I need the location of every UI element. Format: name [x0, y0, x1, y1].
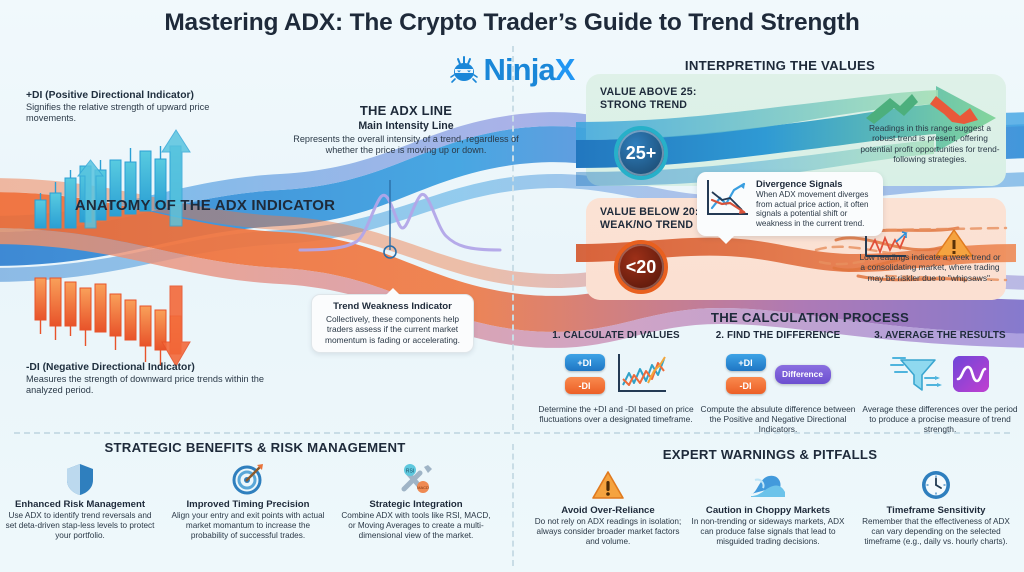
benefit-title: Strategic Integration [338, 499, 494, 510]
warning-title: Caution in Choppy Markets [690, 505, 846, 516]
strong-trend-title: VALUE ABOVE 25:STRONG TREND [600, 86, 697, 112]
warning-card-2: Caution in Choppy Markets In non-trendin… [690, 468, 846, 547]
interpreting-heading: INTERPRETING THE VALUES [600, 58, 960, 73]
shield-icon [2, 462, 158, 496]
calc-step-2-title: 2. FIND THE DIFFERENCE [700, 330, 856, 341]
line-chart-icon [614, 351, 668, 397]
calc-step-1-pills: +DI -DI [565, 354, 605, 394]
brand-name-accent: X [555, 52, 575, 87]
warning-title: Avoid Over-Reliance [530, 505, 686, 516]
calc-step-3: 3. AVERAGE THE RESULTS [862, 330, 1018, 435]
adx-line-subheading: Main Intensity Line [286, 120, 526, 132]
infographic-canvas: Mastering ADX: The Crypto Trader’s Guide… [0, 0, 1024, 572]
calc-step-2-pills: +DI -DI [726, 354, 766, 394]
svg-text:MACD: MACD [417, 485, 429, 490]
divergence-card: Divergence Signals When ADX movement div… [697, 172, 883, 236]
brand-name-main: Ninja [483, 52, 554, 87]
ndi-text: Measures the strength of downward price … [26, 374, 266, 397]
pdi-pill: +DI [565, 354, 605, 371]
adx-line-description: THE ADX LINE Main Intensity Line Represe… [286, 103, 526, 156]
weak-trend-title: VALUE BELOW 20:WEAK/NO TREND [600, 206, 699, 232]
svg-text:RSI: RSI [406, 469, 414, 475]
warning-title: Timeframe Sensitivity [858, 505, 1014, 516]
calc-step-1-title: 1. CALCULATE DI VALUES [538, 330, 694, 341]
wave-icon [690, 468, 846, 502]
calc-step-2: 2. FIND THE DIFFERENCE +DI -DI Differenc… [700, 330, 856, 435]
calc-step-2-text: Compute the absulute difference between … [700, 404, 856, 435]
divergence-text: When ADX movement diverges from actual p… [756, 190, 876, 229]
benefit-title: Enhanced Risk Management [2, 499, 158, 510]
warning-card-3: Timeframe Sensitivity Remember that the … [858, 468, 1014, 547]
weak-trend-note: Low readings indicate a week trend or a … [857, 252, 1003, 283]
wave-tile-icon [952, 355, 990, 393]
strong-trend-note: Readings in this range suggest a robust … [857, 123, 1003, 165]
warning-triangle-icon [530, 468, 686, 502]
clock-icon [858, 468, 1014, 502]
funnel-icon [891, 352, 943, 396]
warning-text: In non-trending or sideways markets, ADX… [690, 517, 846, 547]
page-title: Mastering ADX: The Crypto Trader’s Guide… [0, 9, 1024, 37]
anatomy-title: ANATOMY OF THE ADX INDICATOR [70, 196, 340, 215]
ndi-candles [35, 278, 190, 366]
calc-step-3-text: Average these differences over the perio… [862, 404, 1018, 435]
benefits-heading: STRATEGIC BENEFITS & RISK MANAGEMENT [20, 440, 490, 455]
difference-pill: Difference [775, 365, 831, 384]
pdi-heading: +DI (Positive Directional Indicator) [26, 90, 256, 101]
benefit-card-1: Enhanced Risk Management Use ADX to iden… [2, 462, 158, 541]
warning-card-1: Avoid Over-Reliance Do not rely on ADX r… [530, 468, 686, 547]
horizontal-divider [14, 432, 1010, 434]
ndi-pill: -DI [565, 377, 605, 394]
badge-25plus: 25+ [614, 126, 668, 180]
ninja-mask-icon [449, 55, 479, 85]
calc-step-1-text: Determine the +DI and -DI based on price… [538, 404, 694, 424]
pdi-text: Signifies the relative strength of upwar… [26, 102, 256, 125]
callout-heading: Trend Weakness Indicator [320, 301, 465, 312]
benefit-card-3: RSI MACD Strategic Integration Combine A… [338, 462, 494, 541]
benefit-text: Use ADX to identify trend reversals and … [2, 511, 158, 541]
ndi-heading: -DI (Negative Directional Indicator) [26, 362, 266, 373]
badge-below-20: <20 [614, 240, 668, 294]
divergence-heading: Divergence Signals [756, 178, 876, 189]
wrench-tools-icon: RSI MACD [338, 462, 494, 496]
calc-step-3-title: 3. AVERAGE THE RESULTS [862, 330, 1018, 341]
ndi-pill: -DI [726, 377, 766, 394]
benefit-card-2: Improved Timing Precision Align your ent… [170, 462, 326, 541]
vertical-divider-bottom [512, 444, 514, 566]
target-dart-icon [170, 462, 326, 496]
divergence-chart-icon [704, 178, 750, 229]
callout-text: Collectively, these components help trad… [320, 314, 465, 345]
benefit-text: Combine ADX with tools like RSI, MACD, o… [338, 511, 494, 541]
calc-step-1: 1. CALCULATE DI VALUES +DI -DI Determine… [538, 330, 694, 424]
adx-line-text: Represents the overall intensity of a tr… [286, 134, 526, 156]
trend-weakness-callout: Trend Weakness Indicator Collectively, t… [311, 294, 474, 353]
benefit-text: Align your entry and exit points with ac… [170, 511, 326, 541]
warnings-heading: EXPERT WARNINGS & PITFALLS [535, 447, 1005, 462]
warning-text: Remember that the effectiveness of ADX c… [858, 517, 1014, 547]
warning-text: Do not rely on ADX readings in isolation… [530, 517, 686, 547]
calculation-heading: THE CALCULATION PROCESS [600, 310, 1020, 325]
trend-arrows-icon [860, 92, 1000, 124]
brand-name: NinjaX [483, 52, 574, 88]
pdi-pill: +DI [726, 354, 766, 371]
adx-line-heading: THE ADX LINE [286, 103, 526, 118]
benefit-title: Improved Timing Precision [170, 499, 326, 510]
ndi-description: -DI (Negative Directional Indicator) Mea… [26, 362, 266, 397]
pdi-description: +DI (Positive Directional Indicator) Sig… [26, 90, 256, 125]
